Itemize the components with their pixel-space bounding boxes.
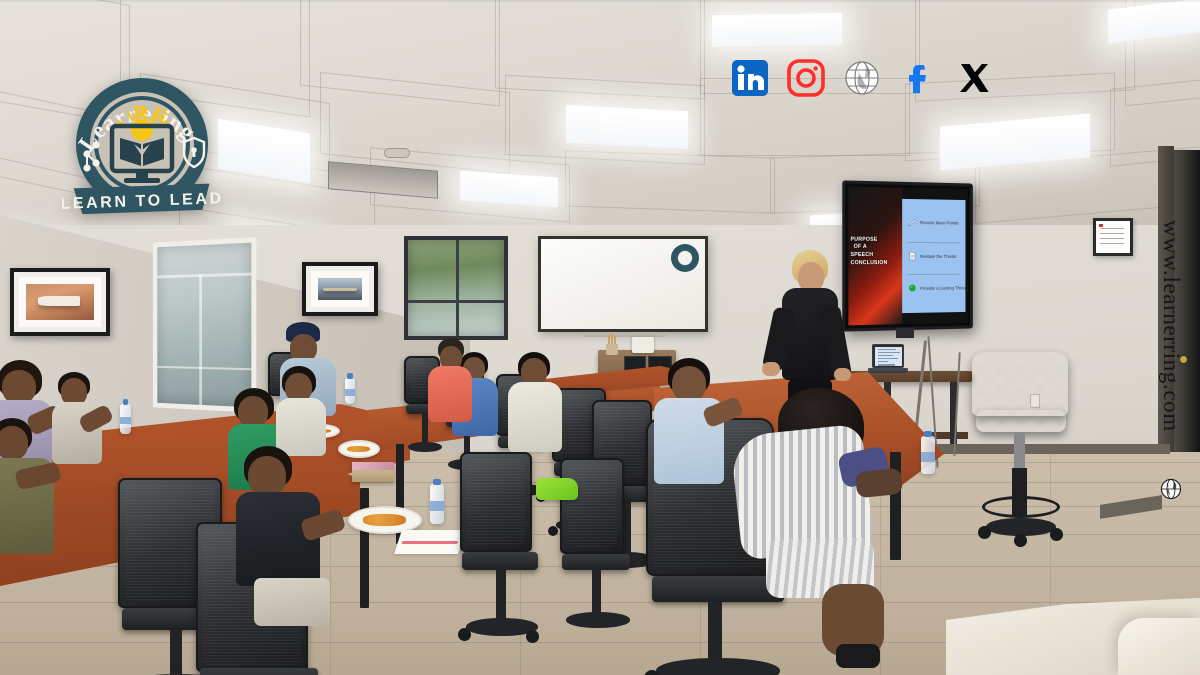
facebook-icon[interactable] <box>896 56 940 100</box>
water-bottle[interactable] <box>345 378 355 404</box>
website-globe-icon[interactable] <box>840 56 884 100</box>
sun-disc-icon <box>131 119 153 141</box>
table-leg <box>360 488 369 608</box>
pencil-cup <box>606 344 618 355</box>
whiteboard <box>538 236 708 332</box>
presenter-hand-left <box>762 362 780 376</box>
student-torso <box>428 366 472 422</box>
classroom-photo: PURPOSE OF A SPEECH CONCLUSION Review Ma… <box>0 0 1200 675</box>
smoke-detector-icon <box>384 148 410 158</box>
presenter-hand-right <box>834 368 851 381</box>
student-head <box>672 366 706 402</box>
slide-title-panel: PURPOSE OF A SPEECH CONCLUSION <box>848 187 901 326</box>
student-torso <box>276 398 326 456</box>
slide-bullet-panel: Review Main Points Restate the Thesis <box>902 199 965 314</box>
website-globe-small-icon <box>1160 478 1182 500</box>
linkedin-icon[interactable] <box>728 56 772 100</box>
framed-certificate <box>1093 218 1133 256</box>
water-bottle[interactable] <box>921 436 935 474</box>
wall-mounted-tv: PURPOSE OF A SPEECH CONCLUSION Review Ma… <box>842 180 973 331</box>
document-icon <box>908 251 917 261</box>
website-url-vertical: www.learnerring.com <box>1148 176 1194 476</box>
interior-window <box>153 237 256 413</box>
slide-bullet-label: Review Main Points <box>920 220 959 225</box>
water-bottle[interactable] <box>430 484 444 524</box>
ceiling-light-panel <box>566 105 688 149</box>
laptop-screen[interactable] <box>872 344 904 368</box>
tissue-box <box>632 337 654 353</box>
x-twitter-icon[interactable] <box>952 56 996 100</box>
laptop-keyboard[interactable] <box>868 368 908 373</box>
water-bottle[interactable] <box>120 404 131 434</box>
tv-wall-mount <box>896 328 914 338</box>
whiteboard-logo-decal <box>671 244 699 272</box>
framed-helicopter-photo <box>10 268 110 336</box>
slide-bullet-2: Restate the Thesis <box>908 251 962 261</box>
student-head <box>248 456 286 496</box>
learnerring-logo-badge: Learne RR ing <box>62 72 222 230</box>
student-head <box>2 370 36 404</box>
sneaker <box>536 478 578 500</box>
tv-screen: PURPOSE OF A SPEECH CONCLUSION Review Ma… <box>848 187 967 326</box>
slide-bullet-label: Provide a Lasting Thought <box>920 285 967 291</box>
website-url-text: www.learnerring.com <box>1158 220 1184 432</box>
framed-aircraft-photo <box>302 262 378 316</box>
slide-bullet-3: Provide a Lasting Thought <box>908 283 962 293</box>
slide-bullet-1: Review Main Points <box>908 217 962 228</box>
student-shorts <box>254 578 330 626</box>
green-dot-icon <box>908 283 917 293</box>
slide-bullet-label: Restate the Thesis <box>920 254 957 259</box>
instagram-icon[interactable] <box>784 56 828 100</box>
napkin <box>394 530 466 554</box>
student-sock <box>836 644 880 668</box>
student-forearm <box>855 468 903 499</box>
check-pen-icon <box>908 217 917 227</box>
social-icon-row <box>728 56 996 100</box>
book[interactable] <box>352 462 394 482</box>
student-head <box>0 426 28 460</box>
student-torso <box>508 382 562 452</box>
slide-heading: PURPOSE OF A SPEECH CONCLUSION <box>851 237 870 268</box>
stool-foot-ring <box>982 496 1060 518</box>
ceiling-light-panel <box>712 13 842 47</box>
white-drape-fold <box>1118 618 1200 675</box>
paper-plate-snack <box>338 440 380 458</box>
whiteboard-marker-tray <box>584 332 666 337</box>
exterior-window <box>404 236 508 340</box>
